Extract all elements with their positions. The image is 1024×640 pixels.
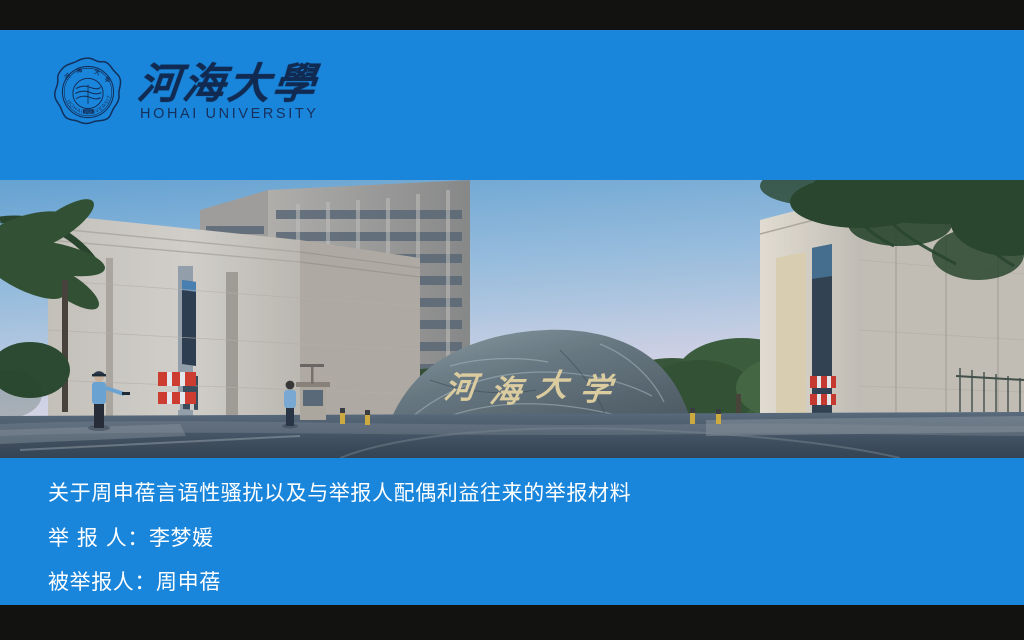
accused-line: 被举报人：周申蓓 <box>48 567 948 597</box>
report-caption-block: 关于周申蓓言语性骚扰以及与举报人配偶利益往来的举报材料 举 报 人：李梦媛 被举… <box>48 478 948 597</box>
campus-gate-photo: 河 海 大 学 <box>0 180 1024 458</box>
accused-name: 周申蓓 <box>156 570 221 594</box>
university-wordmark: 河海大學 HOHAI UNIVERSITY <box>138 63 319 122</box>
hohai-university-seal-icon: 河 海 大 学 HOHAI UNIVERSITY 1915 <box>52 56 124 128</box>
reporter-label: 举 报 人： <box>48 526 149 550</box>
letterbox-bottom <box>0 605 1024 640</box>
svg-text:学: 学 <box>103 75 113 85</box>
report-title: 关于周申蓓言语性骚扰以及与举报人配偶利益往来的举报材料 <box>48 478 948 508</box>
wordmark-english: HOHAI UNIVERSITY <box>138 107 319 122</box>
letterbox-top <box>0 0 1024 30</box>
university-brand-lockup: 河 海 大 学 HOHAI UNIVERSITY 1915 <box>52 56 319 128</box>
slide-body: 河 海 大 学 HOHAI UNIVERSITY 1915 <box>0 30 1024 605</box>
accused-label: 被举报人： <box>48 570 156 594</box>
presentation-slide: 河 海 大 学 HOHAI UNIVERSITY 1915 <box>0 0 1024 640</box>
reporter-name: 李梦媛 <box>149 526 214 550</box>
wordmark-chinese: 河海大學 <box>136 63 321 105</box>
svg-text:1915: 1915 <box>84 110 92 114</box>
reporter-line: 举 报 人：李梦媛 <box>48 523 948 553</box>
